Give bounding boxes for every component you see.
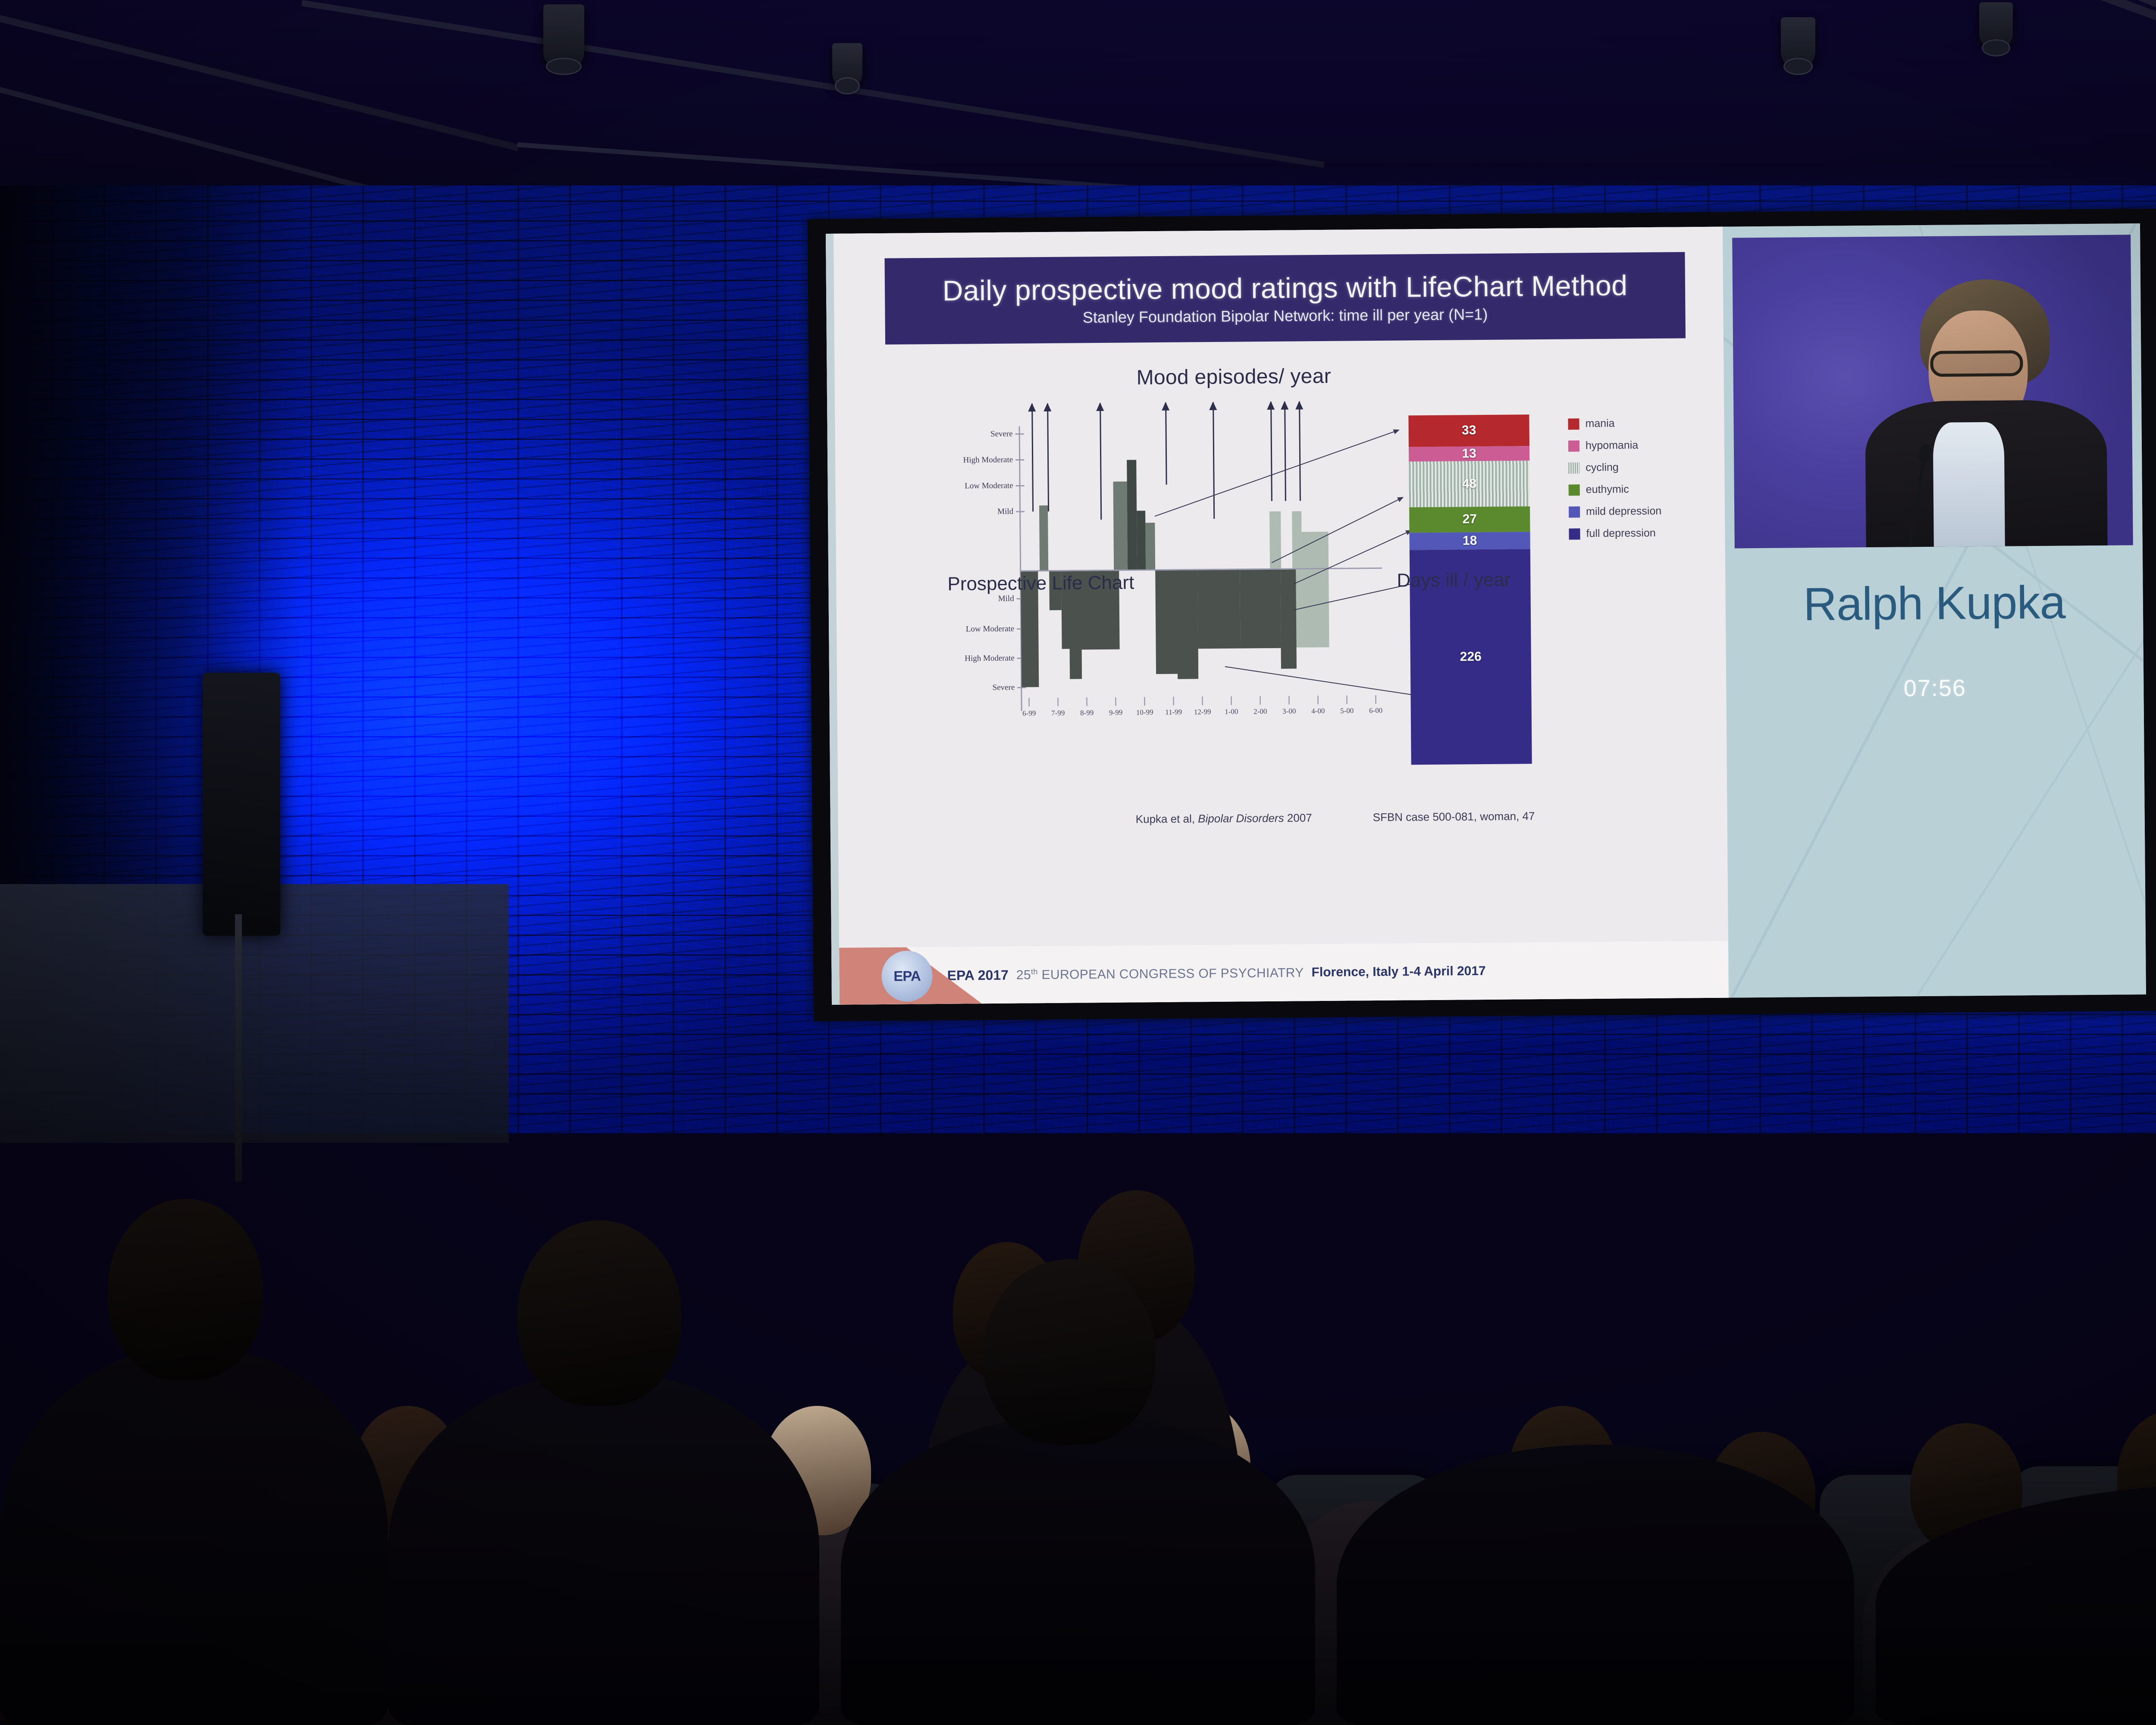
- legend-swatch-hypomania: [1568, 440, 1579, 452]
- axis-tick: [1016, 511, 1025, 512]
- speaker-video-feed: [1732, 235, 2133, 548]
- x-label: 3-00: [1282, 707, 1296, 716]
- audience-torso: [1337, 1445, 1854, 1725]
- chair: [1268, 1475, 1440, 1725]
- mood-episodes-label: Mood episodes/ year: [1136, 364, 1331, 390]
- segment-hypomania: 13: [1409, 446, 1529, 461]
- slide-body: Daily prospective mood ratings with Life…: [834, 227, 1728, 948]
- episode-arrow: [1299, 401, 1301, 501]
- y-label-severe-down: Severe: [993, 683, 1015, 693]
- x-tick: [1260, 696, 1260, 705]
- audience-member: [82, 1423, 272, 1725]
- x-tick: [1057, 698, 1058, 706]
- stage-light-4: [1979, 2, 2013, 50]
- episode-arrow: [1165, 403, 1167, 485]
- audience-torso: [0, 1345, 388, 1725]
- screen-surface: Daily prospective mood ratings with Life…: [826, 223, 2146, 1005]
- chair: [1634, 1471, 1811, 1725]
- audience-member: [1863, 1414, 2061, 1725]
- y-label-low-mod-down: Low Moderate: [966, 624, 1015, 634]
- legend-label-euthymic: euthymic: [1586, 483, 1629, 496]
- audience-head: [763, 1406, 871, 1535]
- chair: [1492, 1540, 1639, 1725]
- legend-item-hypomania: hypomania: [1568, 439, 1711, 452]
- segment-mania: 33: [1408, 414, 1529, 447]
- x-label: 2-00: [1253, 707, 1267, 716]
- episode-arrow: [1100, 403, 1102, 520]
- footer-brand: EPA 2017: [947, 967, 1009, 983]
- episode-arrow: [1047, 404, 1049, 511]
- audience-torso: [897, 1522, 1065, 1725]
- audience-member: [1466, 1384, 1656, 1725]
- epa-logo-text: EPA: [893, 968, 921, 984]
- segment-value-full-depression: 226: [1460, 649, 1482, 664]
- legend-label-cycling: cycling: [1586, 461, 1619, 474]
- audience-member: [724, 1389, 906, 1725]
- presentation-slide: Daily prospective mood ratings with Life…: [826, 227, 1729, 1005]
- stage-light-3: [1781, 17, 1815, 69]
- footer-congress: 25th EUROPEAN CONGRESS OF PSYCHIATRY: [1016, 965, 1304, 982]
- x-tick: [1346, 696, 1347, 704]
- lifechart-bar-up: [1127, 460, 1137, 570]
- chair: [1449, 1479, 1626, 1725]
- legend-swatch-mild-depression: [1569, 506, 1580, 517]
- x-tick: [1288, 696, 1289, 705]
- x-tick: [1231, 696, 1232, 705]
- audience-torso: [319, 1509, 492, 1725]
- x-tick: [1317, 696, 1318, 704]
- legend-item-mild-depression: mild depression: [1569, 505, 1711, 518]
- audience-member: [2065, 1397, 2156, 1725]
- audience-torso: [1104, 1505, 1285, 1725]
- slide-title-band: Daily prospective mood ratings with Life…: [884, 252, 1686, 345]
- x-label: 6-00: [1369, 706, 1383, 715]
- y-label-high-mod-up: High Moderate: [963, 455, 1013, 465]
- segment-value-mania: 33: [1462, 423, 1476, 438]
- x-label: 12-99: [1194, 708, 1211, 717]
- segment-value-cycling: 48: [1462, 477, 1477, 491]
- audience-torso: [1466, 1509, 1656, 1725]
- audience-head: [931, 1427, 1035, 1548]
- x-label: 1-00: [1225, 707, 1238, 716]
- segment-mild-depression: 18: [1409, 532, 1530, 550]
- audience-head: [17, 1479, 112, 1583]
- y-label-low-mod-up: Low Moderate: [965, 481, 1013, 491]
- audience-torso: [0, 1561, 129, 1725]
- legend-item-cycling: cycling: [1568, 461, 1711, 474]
- lifechart-bar-up: [1145, 523, 1155, 570]
- audience-head: [953, 1242, 1061, 1380]
- chair: [910, 1479, 1078, 1725]
- segment-value-mild-depression: 18: [1463, 533, 1477, 548]
- chair: [854, 1544, 996, 1725]
- audience-member-foreground: [1876, 1397, 2156, 1725]
- x-label: 6-99: [1022, 709, 1036, 718]
- x-tick: [1144, 697, 1145, 706]
- axis-tick: [1016, 485, 1025, 486]
- audience-torso: [918, 1345, 1091, 1725]
- audience-member-foreground: [1337, 1345, 1854, 1725]
- chair: [1164, 1544, 1307, 1725]
- legend-item-mania: mania: [1568, 417, 1710, 430]
- x-tick: [1202, 696, 1203, 705]
- chair: [1005, 1540, 1147, 1725]
- audience-member: [319, 1397, 492, 1725]
- speaker-name: Ralph Kupka: [1803, 575, 2065, 631]
- audience-head: [1315, 1389, 1427, 1527]
- session-timer: 07:56: [1904, 674, 1967, 702]
- episode-arrow: [1270, 402, 1272, 501]
- speaker-shirt: [1933, 422, 2005, 549]
- speaker-panel: Ralph Kupka 07:56: [1723, 223, 2146, 998]
- slide-title: Daily prospective mood ratings with Life…: [942, 269, 1627, 307]
- pa-speaker: [203, 673, 280, 936]
- chair: [1992, 1531, 2143, 1725]
- audience-member: [918, 1173, 1091, 1725]
- chair: [1328, 1535, 1475, 1725]
- x-label: 9-99: [1109, 708, 1123, 717]
- legend-item-full-depression: full depression: [1569, 527, 1711, 540]
- lifechart-bar-down: [1177, 570, 1198, 679]
- footer-ordinal-suffix: th: [1031, 967, 1038, 976]
- x-label: 11-99: [1165, 708, 1182, 717]
- audience-head: [1509, 1406, 1617, 1535]
- audience-torso: [841, 1414, 1315, 1725]
- y-label-mild-up: Mild: [997, 507, 1013, 517]
- chair: [1656, 1531, 1807, 1725]
- audience-head: [983, 1259, 1156, 1445]
- legend-label-mania: mania: [1585, 417, 1614, 430]
- legend-item-euthymic: euthymic: [1569, 483, 1711, 496]
- legend-swatch-cycling: [1568, 462, 1579, 474]
- citation-author: Kupka et al,: [1136, 812, 1198, 825]
- audience-head: [565, 1367, 673, 1505]
- audience-member: [535, 1345, 699, 1725]
- audience-head: [1143, 1402, 1250, 1531]
- audience-head: [1708, 1432, 1815, 1557]
- citation-journal: Bipolar Disorders: [1198, 812, 1284, 825]
- audience-member: [1276, 1367, 1462, 1725]
- x-tick: [1115, 697, 1116, 706]
- x-label: 8-99: [1080, 709, 1094, 718]
- chair: [1087, 1483, 1259, 1725]
- axis-tick: [1015, 459, 1024, 461]
- x-label: 10-99: [1136, 708, 1153, 717]
- audience-torso: [388, 1371, 819, 1725]
- y-label-mild-down: Mild: [998, 594, 1014, 604]
- caption-days-ill-per-year: Days ill / year: [1397, 569, 1510, 592]
- chair: [2009, 1466, 2156, 1725]
- x-tick: [1028, 698, 1029, 706]
- x-label: 5-00: [1340, 706, 1354, 715]
- chair: [733, 1483, 901, 1725]
- audience-member: [1660, 1423, 1854, 1725]
- lifechart-bar-down: [1280, 569, 1297, 668]
- x-tick: [1375, 695, 1376, 704]
- audience-member: [1104, 1380, 1285, 1725]
- auditorium-room: Daily prospective mood ratings with Life…: [0, 0, 2156, 1725]
- audience-member-foreground: [388, 1229, 819, 1725]
- audience-torso: [535, 1475, 699, 1725]
- audience-torso: [2065, 1522, 2156, 1725]
- audience-torso: [1660, 1535, 1854, 1725]
- audience-torso: [1276, 1501, 1462, 1725]
- audience-member: [1026, 1113, 1242, 1725]
- slide-subtitle: Stanley Foundation Bipolar Network: time…: [1083, 305, 1488, 326]
- lifechart-bar-cycling: [1301, 532, 1329, 647]
- episode-arrow: [1031, 404, 1034, 511]
- epa-logo: EPA: [881, 950, 933, 1002]
- audience-head: [125, 1432, 233, 1552]
- chair: [1824, 1535, 1975, 1725]
- lifechart-x-axis: 6-99 7-99 8-99 9-99 10-99 11-99 12-99 1-…: [1021, 695, 1383, 709]
- episode-arrow: [1284, 402, 1286, 501]
- audience-head: [1910, 1423, 2022, 1552]
- citation-reference: Kupka et al, Bipolar Disorders 2007: [1136, 811, 1312, 826]
- footer-congress-text: EUROPEAN CONGRESS OF PSYCHIATRY: [1038, 966, 1304, 982]
- chair: [1820, 1475, 2001, 1725]
- x-label: 4-00: [1311, 707, 1325, 716]
- caption-prospective-life-chart: Prospective Life Chart: [947, 572, 1134, 595]
- slide-footer: EPA EPA 2017 25th EUROPEAN CONGRESS OF P…: [839, 941, 1729, 1005]
- audience-torso: [724, 1509, 906, 1725]
- audience-member-foreground: [841, 1294, 1315, 1725]
- lifechart-bar-up: [1137, 511, 1146, 570]
- audience-head: [354, 1406, 461, 1535]
- y-label-high-mod-down: High Moderate: [965, 654, 1015, 664]
- segment-value-hypomania: 13: [1462, 446, 1476, 461]
- audience-torso: [1026, 1302, 1242, 1725]
- projection-screen: Daily prospective mood ratings with Life…: [808, 209, 2156, 1022]
- segment-cycling: 48: [1409, 461, 1530, 507]
- x-tick: [1086, 697, 1087, 706]
- lifechart-bar-up: [1039, 505, 1048, 571]
- lifechart-bar-down: [1197, 570, 1240, 649]
- legend-swatch-euthymic: [1569, 484, 1580, 496]
- audience-head: [2117, 1410, 2156, 1544]
- audience-member: [0, 1483, 129, 1725]
- audience-head: [1078, 1190, 1194, 1341]
- legend-label-full-depression: full depression: [1586, 527, 1655, 540]
- lifechart-y-axis: Severe High Moderate Low Moderate Mild M…: [908, 396, 1018, 716]
- legend-swatch-mania: [1568, 418, 1579, 430]
- audience-member-foreground: [0, 1186, 388, 1725]
- stage-light-2: [832, 43, 862, 88]
- days-ill-stacked-bar: 33 13 48 27: [1408, 414, 1532, 778]
- stage-light-1: [543, 4, 584, 69]
- y-label-severe-up: Severe: [990, 430, 1013, 439]
- lifechart-bar-up: [1113, 482, 1128, 571]
- audience-torso: [1876, 1483, 2156, 1725]
- audience-torso: [82, 1527, 272, 1725]
- segment-euthymic: 27: [1409, 506, 1530, 533]
- audience-head: [517, 1220, 681, 1406]
- lifechart-bar-down: [1240, 570, 1281, 649]
- mood-legend: mania hypomania cycling: [1568, 417, 1711, 550]
- citation-year: 2007: [1284, 811, 1312, 825]
- audience-head: [108, 1199, 263, 1380]
- episode-arrow: [1213, 402, 1215, 519]
- pa-speaker-stand: [235, 914, 242, 1182]
- footer-ordinal: 25: [1016, 968, 1031, 982]
- legend-swatch-full-depression: [1569, 528, 1580, 539]
- legend-label-hypomania: hypomania: [1586, 439, 1639, 452]
- axis-tick: [1015, 433, 1024, 435]
- audience-torso: [1863, 1531, 2061, 1725]
- x-label: 7-99: [1051, 709, 1065, 718]
- glasses-icon: [1930, 351, 2023, 377]
- legend-label-mild-depression: mild depression: [1586, 505, 1661, 518]
- footer-location: Florence, Italy 1-4 April 2017: [1311, 964, 1485, 980]
- x-tick: [1173, 697, 1174, 706]
- audience-member: [897, 1423, 1065, 1725]
- citation-case: SFBN case 500-081, woman, 47: [1373, 809, 1535, 824]
- segment-value-euthymic: 27: [1462, 512, 1477, 527]
